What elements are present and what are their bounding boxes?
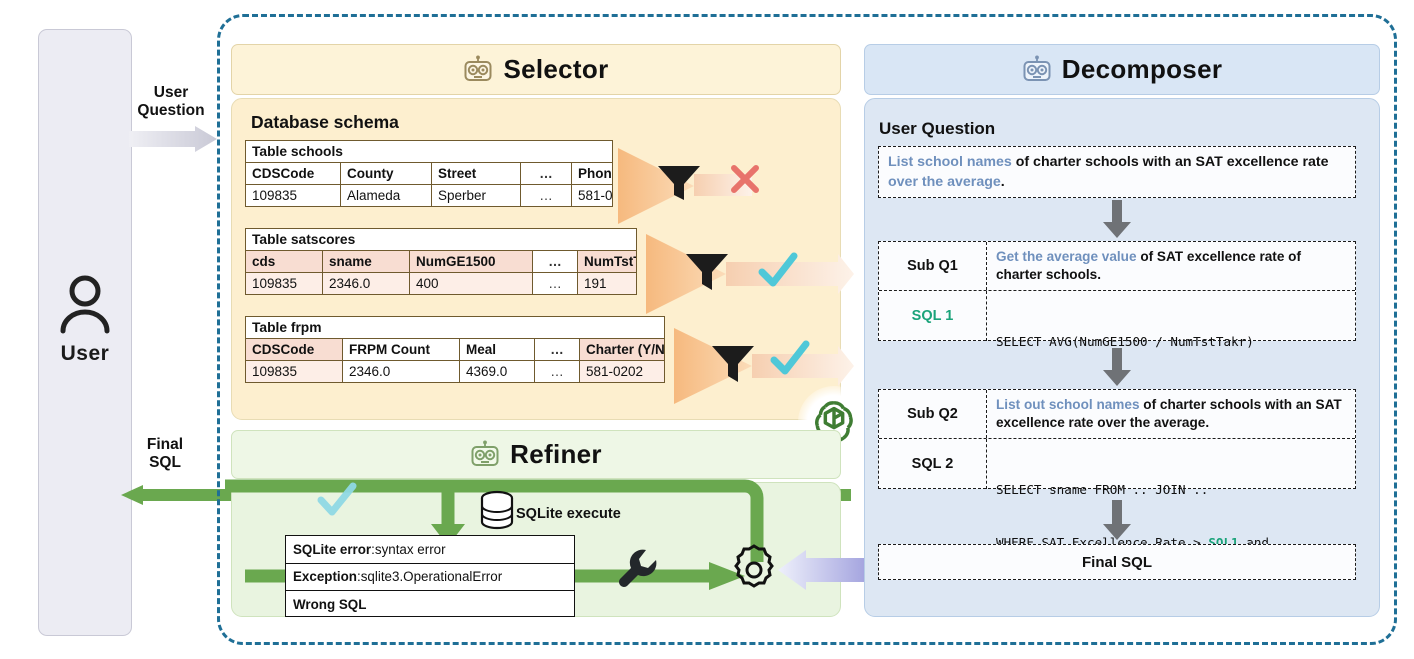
user-question-title: User Question	[879, 119, 995, 139]
table-cell: 400	[410, 273, 533, 294]
user-question-label: User Question	[125, 84, 217, 121]
table-frpm: Table frpm CDSCode FRPM Count Meal … Cha…	[245, 316, 665, 383]
robot-icon	[463, 55, 493, 85]
table-cell: 4369.0	[460, 361, 535, 382]
database-icon	[479, 490, 515, 532]
error-row: SQLite error: syntax error	[286, 536, 574, 564]
error-row: Wrong SQL	[286, 591, 574, 618]
user-question-arrow-icon	[129, 126, 217, 152]
table-row: 109835 2346.0 4369.0 … 581-0202	[246, 361, 664, 382]
user-question-text-2: .	[1001, 174, 1005, 190]
refiner-header: Refiner	[231, 430, 841, 479]
final-sql-transfer-arrow-icon	[776, 548, 872, 592]
user-question-highlight-2: over the average	[888, 174, 1001, 190]
table-row: 109835 2346.0 400 … 191	[246, 273, 636, 294]
sql-1-row: SQL 1 SELECT AVG(NumGE1500 / NumTstTakr)…	[879, 290, 1355, 341]
sub-question-2-row: Sub Q2 List out school names of charter …	[879, 390, 1355, 438]
error-value: syntax error	[375, 542, 446, 557]
table-header-cell: sname	[323, 251, 410, 272]
robot-icon	[470, 440, 500, 470]
table-cell-ellipsis: …	[533, 273, 578, 294]
table-cell: 109835	[246, 273, 323, 294]
filter-verdict-group-schools	[616, 146, 846, 230]
database-schema-title: Database schema	[251, 112, 399, 133]
gear-icon	[726, 542, 782, 598]
sql-2-line-1: SELECT sname FROM .. JOIN ..	[996, 481, 1346, 499]
final-sql-label-line1: Final	[124, 436, 206, 454]
table-cell: 2346.0	[343, 361, 460, 382]
sub-q2-text: List out school names of charter schools…	[987, 390, 1355, 438]
table-cell-ellipsis: …	[521, 185, 572, 206]
check-icon	[316, 482, 358, 522]
down-arrow-icon	[1102, 500, 1132, 540]
user-label: User	[39, 342, 131, 366]
sub-q2-label: Sub Q2	[879, 390, 987, 438]
table-caption: Table frpm	[246, 317, 664, 339]
table-header-cell: cds	[246, 251, 323, 272]
filter-verdict-group-satscores	[616, 232, 856, 318]
selector-header: Selector	[231, 44, 841, 95]
table-header-cell: Meal	[460, 339, 535, 360]
sql-2-row: SQL 2 SELECT sname FROM .. JOIN .. WHERE…	[879, 438, 1355, 489]
table-cell: 109835	[246, 361, 343, 382]
person-icon	[39, 268, 131, 340]
user-question-box: List school names of charter schools wit…	[878, 146, 1356, 198]
cross-icon	[728, 162, 762, 196]
sub-q1-highlight: Get the average value	[996, 249, 1137, 264]
table-cell: 581-0202	[572, 185, 612, 206]
user-question-text-1: of charter schools with an SAT excellenc…	[1012, 154, 1329, 170]
table-header-cell: County	[341, 163, 432, 184]
decomposer-header: Decomposer	[864, 44, 1380, 95]
table-cell: Sperber	[432, 185, 521, 206]
refiner-title: Refiner	[510, 439, 602, 470]
table-cell-ellipsis: …	[535, 361, 580, 382]
table-header-row: CDSCode FRPM Count Meal … Charter (Y/N)	[246, 339, 664, 361]
robot-icon	[1022, 55, 1052, 85]
sql-1-code: SELECT AVG(NumGE1500 / NumTstTakr) FROM …	[987, 291, 1355, 341]
wrench-icon	[613, 545, 663, 595]
sub-q1-text: Get the average value of SAT excellence …	[987, 242, 1355, 290]
sub-question-1-block: Sub Q1 Get the average value of SAT exce…	[878, 241, 1356, 341]
table-header-cell-ellipsis: …	[521, 163, 572, 184]
table-caption: Table schools	[246, 141, 612, 163]
table-header-cell: CDSCode	[246, 163, 341, 184]
table-header-cell: NumGE1500	[410, 251, 533, 272]
down-arrow-icon	[1102, 200, 1132, 238]
user-question-label-line1: User	[125, 84, 217, 102]
table-row: 109835 Alameda Sperber … 581-0202	[246, 185, 612, 206]
sub-q1-label: Sub Q1	[879, 242, 987, 290]
sql-1-label: SQL 1	[879, 291, 987, 341]
user-question-label-line2: Question	[125, 102, 217, 120]
table-satscores: Table satscores cds sname NumGE1500 … Nu…	[245, 228, 637, 295]
table-cell: 109835	[246, 185, 341, 206]
table-schools: Table schools CDSCode County Street … Ph…	[245, 140, 613, 207]
sqlite-execute-label: SQLite execute	[516, 506, 621, 522]
table-header-cell: Phone	[572, 163, 612, 184]
final-sql-label-line2: SQL	[124, 454, 206, 472]
table-header-cell-ellipsis: …	[535, 339, 580, 360]
final-sql-label: Final SQL	[1082, 554, 1152, 571]
sub-q2-highlight: List out school names	[996, 397, 1140, 412]
down-arrow-icon	[1102, 348, 1132, 386]
final-sql-flow-label: Final SQL	[124, 436, 206, 473]
table-header-row: CDSCode County Street … Phone	[246, 163, 612, 185]
table-cell: 2346.0	[323, 273, 410, 294]
table-header-cell: Street	[432, 163, 521, 184]
user-panel: User	[38, 29, 132, 636]
sql-1-line-1: SELECT AVG(NumGE1500 / NumTstTakr)	[996, 333, 1346, 351]
user-question-highlight-1: List school names	[888, 154, 1012, 170]
table-header-cell-ellipsis: …	[533, 251, 578, 272]
sql-2-label: SQL 2	[879, 439, 987, 489]
decomposer-title: Decomposer	[1062, 54, 1223, 85]
error-row: Exception: sqlite3.OperationalError	[286, 564, 574, 592]
sql-2-code: SELECT sname FROM .. JOIN .. WHERE SAT_E…	[987, 439, 1355, 489]
final-sql-box: Final SQL	[878, 544, 1356, 580]
table-cell: Alameda	[341, 185, 432, 206]
table-header-cell: CDSCode	[246, 339, 343, 360]
table-caption: Table satscores	[246, 229, 636, 251]
sub-question-2-block: Sub Q2 List out school names of charter …	[878, 389, 1356, 489]
table-header-row: cds sname NumGE1500 … NumTstTakr	[246, 251, 636, 273]
sub-question-1-row: Sub Q1 Get the average value of SAT exce…	[879, 242, 1355, 290]
error-value: sqlite3.OperationalError	[361, 569, 502, 584]
error-key: SQLite error	[293, 542, 371, 557]
error-key: Exception	[293, 569, 357, 584]
selector-title: Selector	[503, 54, 608, 85]
error-key: Wrong SQL	[293, 597, 366, 612]
check-icon	[756, 250, 800, 294]
check-icon	[768, 336, 812, 380]
error-box: SQLite error: syntax error Exception: sq…	[285, 535, 575, 617]
table-header-cell: FRPM Count	[343, 339, 460, 360]
